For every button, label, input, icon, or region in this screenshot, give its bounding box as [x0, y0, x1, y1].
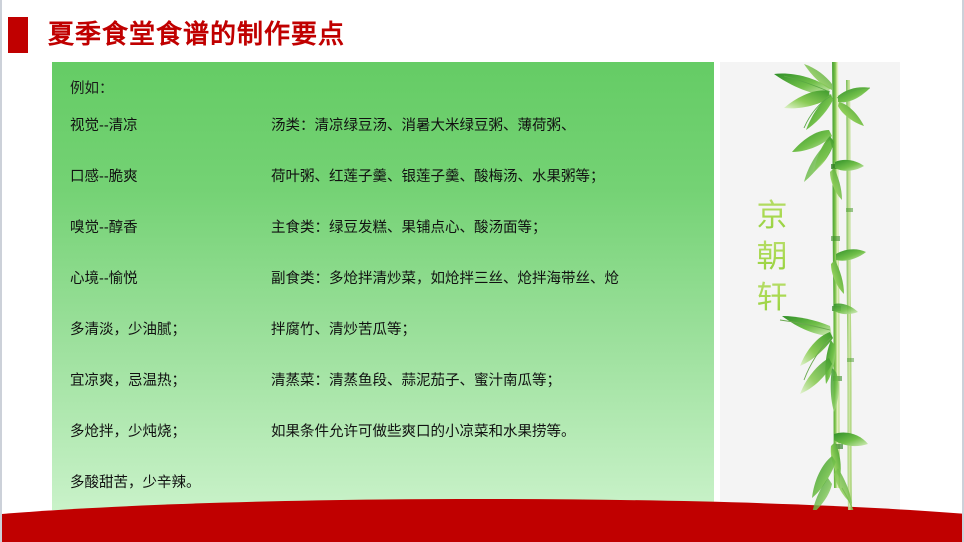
- content-row: 视觉--清凉 汤类：清凉绿豆汤、消暑大米绿豆粥、薄荷粥、: [66, 114, 704, 165]
- deco-char-2: 朝: [757, 236, 788, 277]
- content-panel: 例如： 视觉--清凉 汤类：清凉绿豆汤、消暑大米绿豆粥、薄荷粥、 口感--脆爽 …: [52, 62, 714, 510]
- row-left-text: 多炝拌，少炖烧；: [66, 420, 271, 441]
- row-left-text: 心境--愉悦: [66, 267, 271, 288]
- row-left-text: 嗅觉--醇香: [66, 216, 271, 237]
- title-marker-block: [8, 17, 28, 53]
- content-row: 多炝拌，少炖烧； 如果条件允许可做些爽口的小凉菜和水果捞等。: [66, 420, 704, 471]
- content-row: 口感--脆爽 荷叶粥、红莲子羹、银莲子羹、酸梅汤、水果粥等；: [66, 165, 704, 216]
- content-row: 心境--愉悦 副食类：多炝拌清炒菜，如炝拌三丝、炝拌海带丝、炝: [66, 267, 704, 318]
- content-row: 宜凉爽，忌温热； 清蒸菜：清蒸鱼段、蒜泥茄子、蜜汁南瓜等；: [66, 369, 704, 420]
- deco-char-1: 京: [757, 195, 788, 236]
- row-left-text: 视觉--清凉: [66, 114, 271, 135]
- intro-label: 例如：: [70, 82, 704, 97]
- content-row: 多清淡，少油腻； 拌腐竹、清炒苦瓜等；: [66, 318, 704, 369]
- decoration-panel: 京 朝 轩: [720, 62, 900, 510]
- row-left-text: 多清淡，少油腻；: [66, 318, 271, 339]
- slide-title-row: 夏季食堂食谱的制作要点: [2, 14, 962, 56]
- row-right-text: 汤类：清凉绿豆汤、消暑大米绿豆粥、薄荷粥、: [271, 114, 704, 135]
- row-right-text: 副食类：多炝拌清炒菜，如炝拌三丝、炝拌海带丝、炝: [271, 267, 704, 288]
- page-title: 夏季食堂食谱的制作要点: [48, 22, 345, 48]
- row-right-text: 如果条件允许可做些爽口的小凉菜和水果捞等。: [271, 420, 704, 441]
- row-right-text: 拌腐竹、清炒苦瓜等；: [271, 318, 704, 339]
- row-left-text: 口感--脆爽: [66, 165, 271, 186]
- row-right-text: 荷叶粥、红莲子羹、银莲子羹、酸梅汤、水果粥等；: [271, 165, 704, 186]
- row-right-text: 清蒸菜：清蒸鱼段、蒜泥茄子、蜜汁南瓜等；: [271, 369, 704, 390]
- content-rows: 视觉--清凉 汤类：清凉绿豆汤、消暑大米绿豆粥、薄荷粥、 口感--脆爽 荷叶粥、…: [66, 114, 704, 522]
- row-left-text: 多酸甜苦，少辛辣。: [66, 471, 271, 492]
- slide-canvas: 夏季食堂食谱的制作要点 例如： 视觉--清凉 汤类：清凉绿豆汤、消暑大米绿豆粥、…: [0, 0, 964, 542]
- content-row: 嗅觉--醇香 主食类：绿豆发糕、果铺点心、酸汤面等；: [66, 216, 704, 267]
- row-left-text: 宜凉爽，忌温热；: [66, 369, 271, 390]
- deco-vertical-text: 京 朝 轩: [750, 195, 794, 318]
- row-right-text: 主食类：绿豆发糕、果铺点心、酸汤面等；: [271, 216, 704, 237]
- deco-char-3: 轩: [757, 277, 788, 318]
